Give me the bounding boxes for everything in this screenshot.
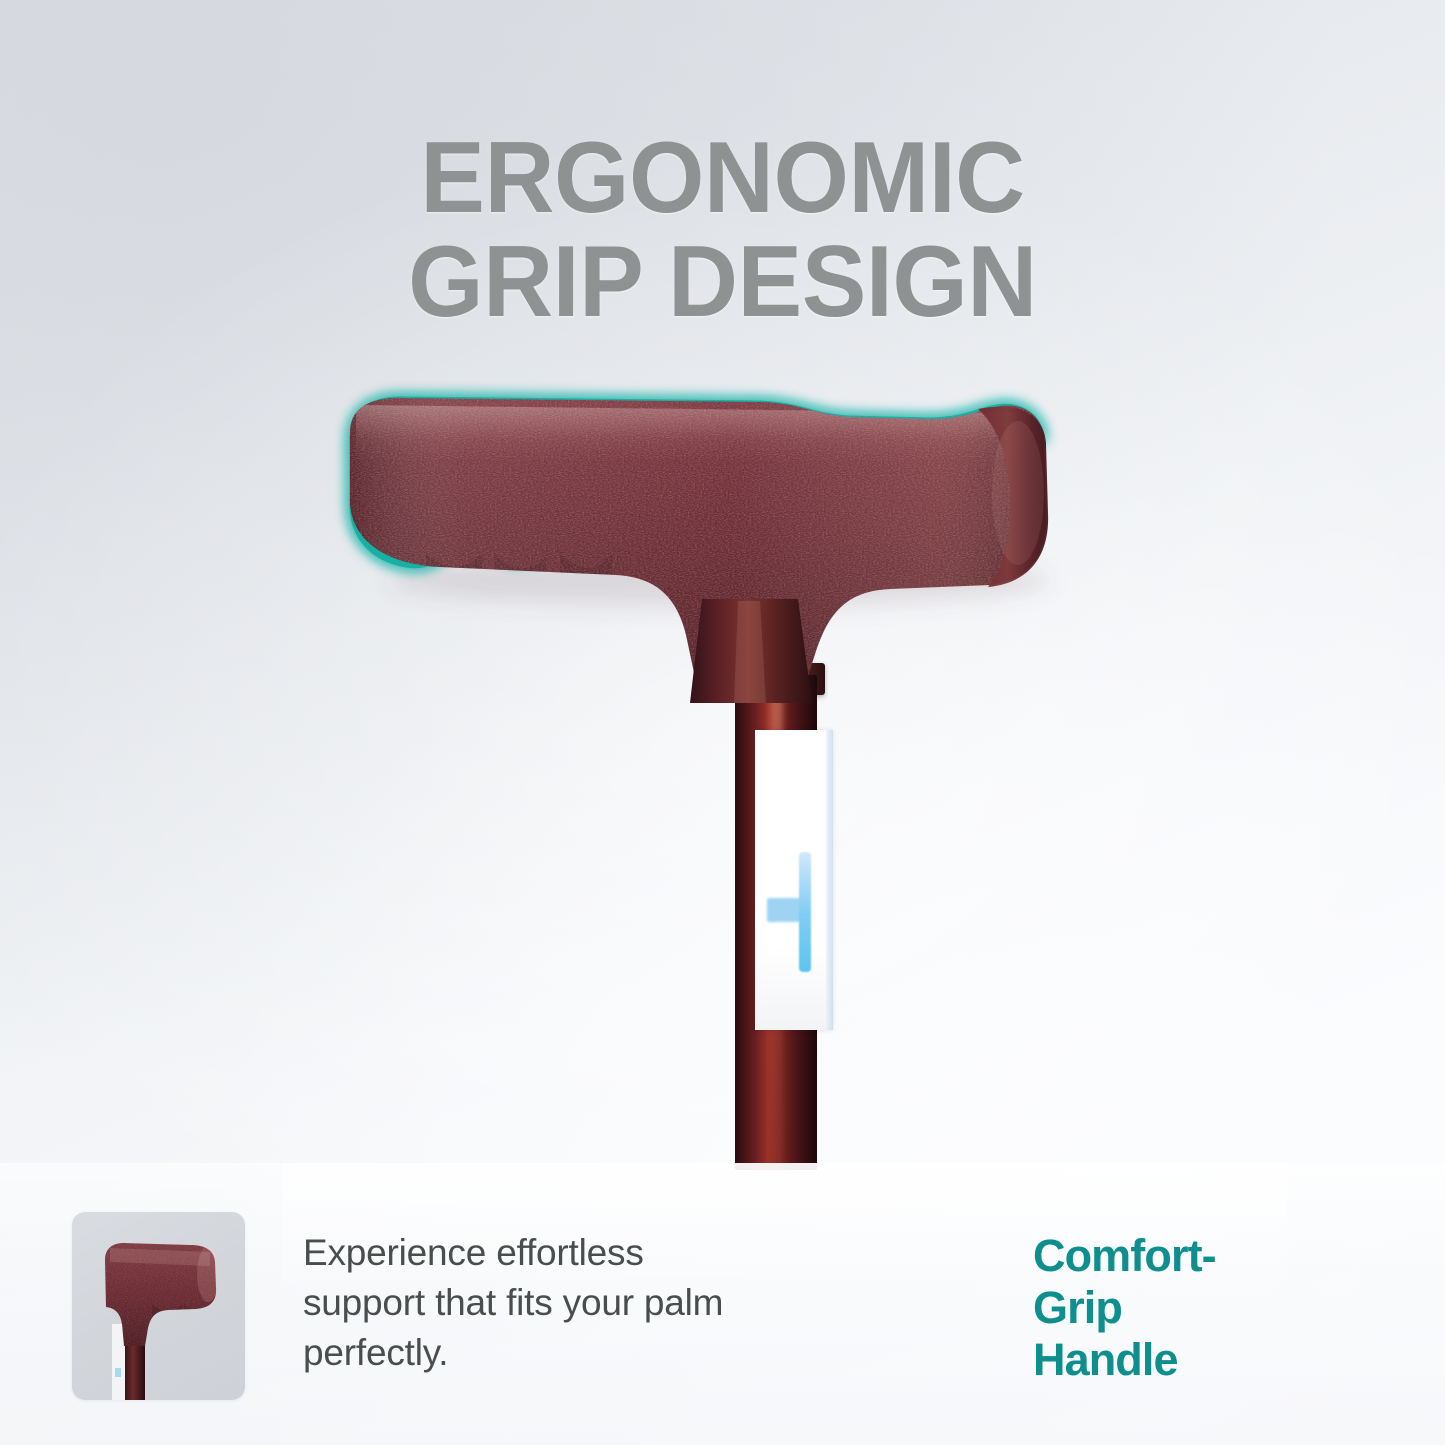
product-label — [755, 730, 833, 1030]
handle-body — [330, 385, 1070, 705]
thumbnail-handle — [72, 1212, 245, 1400]
feature-caption: Experience effortless support that fits … — [303, 1228, 773, 1378]
product-image — [0, 330, 1445, 1170]
cane-handle — [330, 385, 1070, 705]
cane-handle-thumbnail[interactable] — [72, 1212, 245, 1400]
label-logo-stroke-icon — [799, 852, 811, 972]
feature-badge-label: Comfort- Grip Handle — [1033, 1230, 1323, 1386]
label-curved-edge — [826, 730, 833, 1030]
product-feature-card: ERGONOMIC GRIP DESIGN — [0, 0, 1445, 1445]
thumbnail-label-mark-icon — [115, 1368, 121, 1377]
page-title: ERGONOMIC GRIP DESIGN — [29, 126, 1416, 334]
label-logo-icon — [767, 898, 803, 922]
